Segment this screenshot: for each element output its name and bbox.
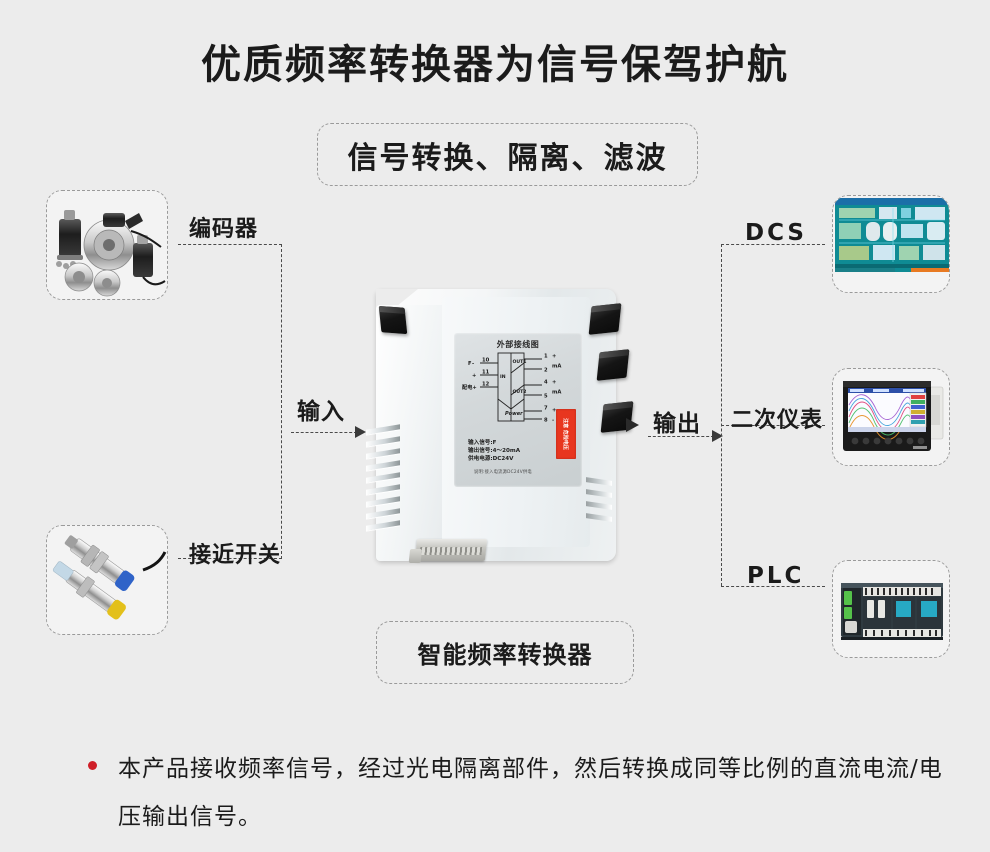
paperless-recorder-photo [833, 369, 949, 465]
warning-sticker-text: 注意 危险电压 [556, 409, 576, 459]
subtitle-text: 信号转换、隔离、滤波 [348, 133, 668, 177]
output-arrow-head-icon [626, 418, 652, 432]
input-tile-encoder [46, 190, 168, 300]
terminal-connector-right-1 [589, 303, 622, 335]
nameplate-footnote: 说明:接入电流源DC24V供电 [474, 469, 578, 475]
terminal-connector-right-2 [597, 349, 630, 381]
bullet-dot-icon [88, 761, 97, 770]
svg-text:-: - [472, 361, 474, 367]
proximity-switch-photo [47, 526, 167, 634]
dcs-scada-screen-photo [833, 196, 949, 292]
svg-text:+: + [552, 380, 556, 386]
infographic-page: 优质频率转换器为信号保驾护航 信号转换、隔离、滤波 [0, 0, 990, 852]
output-target-label-dcs: DCS [745, 220, 807, 246]
svg-text:配电+: 配电+ [462, 383, 477, 391]
svg-text:7: 7 [544, 406, 548, 412]
output-target-label-instrument: 二次仪表 [731, 402, 823, 434]
din-rail-clip-tab [409, 549, 422, 563]
output-arrow-line [648, 436, 714, 437]
frequency-converter-device: 外部接线图 [358, 281, 658, 581]
svg-text:12: 12 [482, 382, 490, 388]
input-arrow-line [291, 432, 357, 433]
svg-text:11: 11 [482, 370, 490, 376]
din-rail-clip [415, 539, 487, 561]
connector-right-vertical-bus [721, 244, 722, 586]
svg-text:Power: Power [505, 411, 523, 417]
connector-left-vertical-bus [281, 244, 282, 559]
output-tile-secondary-instrument [832, 368, 950, 466]
output-label: 输出 [653, 404, 701, 438]
din-rail-clip-teeth [419, 547, 482, 555]
svg-text:OUT1: OUT1 [513, 359, 527, 365]
svg-text:10: 10 [482, 358, 490, 364]
connector-cap [379, 306, 405, 314]
encoder-photo [47, 191, 167, 299]
input-tile-proximity-switch [46, 525, 168, 635]
input-source-label-proximity: 接近开关 [189, 537, 281, 569]
svg-text:1: 1 [544, 354, 548, 360]
page-title: 优质频率转换器为信号保驾护航 [0, 32, 990, 90]
terminal-connector-left [379, 306, 408, 334]
svg-text:2: 2 [544, 368, 548, 374]
svg-text:-: - [552, 418, 554, 424]
plc-module-photo [833, 561, 949, 657]
svg-text:+: + [552, 354, 556, 360]
subtitle-box: 信号转换、隔离、滤波 [317, 123, 698, 186]
product-caption-box: 智能频率转换器 [376, 621, 634, 684]
input-source-label-encoder: 编码器 [189, 211, 258, 243]
output-tile-plc [832, 560, 950, 658]
svg-text:4: 4 [544, 380, 548, 386]
warning-sticker: 注意 危险电压 [556, 409, 576, 459]
svg-text:5: 5 [544, 394, 548, 400]
svg-text:IN: IN [500, 374, 506, 380]
svg-text:mA: mA [552, 390, 561, 396]
input-label: 输入 [297, 392, 345, 426]
svg-text:+: + [472, 373, 476, 379]
svg-text:mA: mA [552, 364, 561, 370]
output-tile-dcs [832, 195, 950, 293]
svg-text:OUT2: OUT2 [513, 389, 527, 395]
output-target-label-plc: PLC [747, 563, 804, 589]
product-caption-text: 智能频率转换器 [418, 635, 593, 670]
connector-encoder-horizontal [178, 244, 282, 245]
svg-text:8: 8 [544, 418, 548, 424]
description-block: 本产品接收频率信号，经过光电隔离部件，然后转换成同等比例的直流电流/电压输出信号… [88, 745, 948, 841]
description-text: 本产品接收频率信号，经过光电隔离部件，然后转换成同等比例的直流电流/电压输出信号… [118, 745, 948, 841]
